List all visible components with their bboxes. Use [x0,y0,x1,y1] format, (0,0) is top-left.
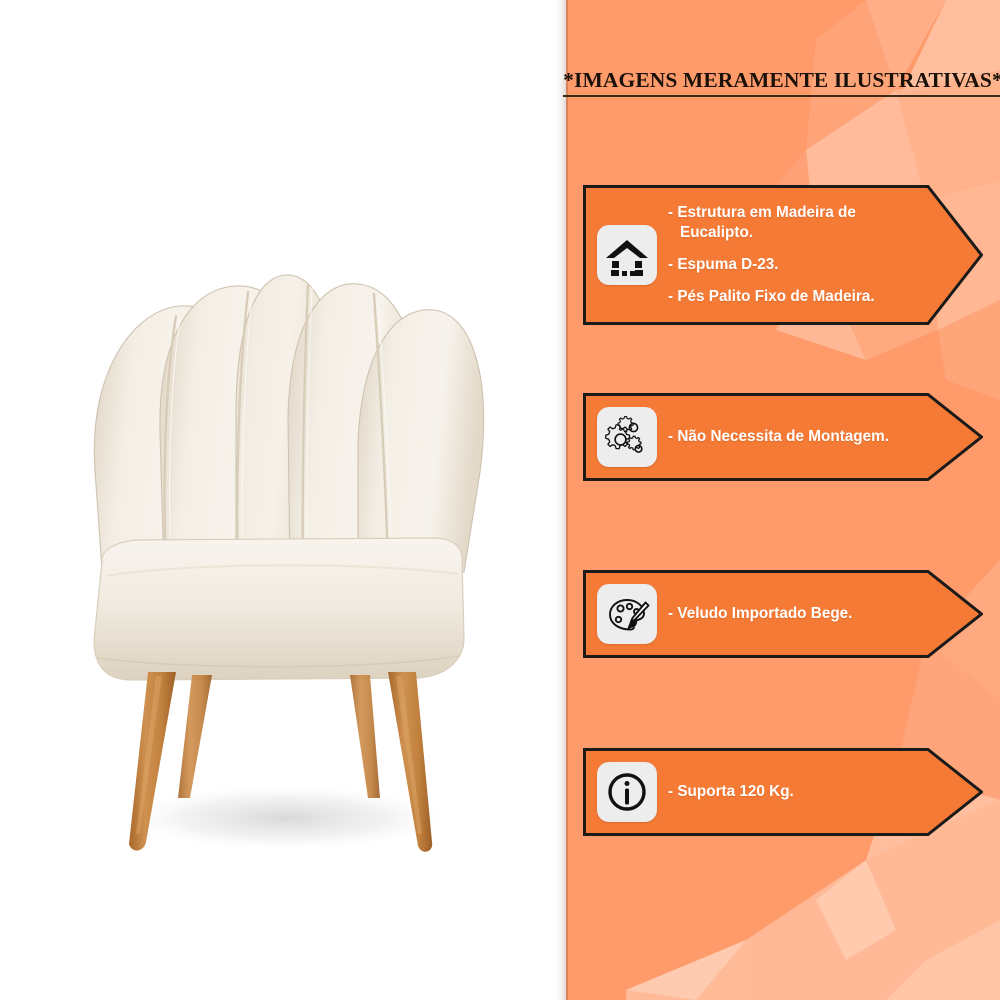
infographic-stage: *IMAGENS MERAMENTE ILUSTRATIVAS* - Estru… [0,0,1000,1000]
house-icon [597,225,657,285]
feature-banner-fabric[interactable]: - Veludo Importado Bege. [583,570,983,658]
chair-backrest [94,275,483,574]
palette-icon [597,584,657,644]
feature-text-structure: - Estrutura em Madeira de Eucalipto. - E… [668,204,875,306]
feature-line: - Estrutura em Madeira de [668,204,875,222]
low-poly-background [566,0,1000,1000]
page-title-text: *IMAGENS MERAMENTE ILUSTRATIVAS* [563,69,1000,98]
gears-icon [597,407,657,467]
feature-text-fabric: - Veludo Importado Bege. [668,605,852,623]
feature-banner-structure[interactable]: - Estrutura em Madeira de Eucalipto. - E… [583,185,983,325]
feature-banner-capacity[interactable]: - Suporta 120 Kg. [583,748,983,836]
product-image-chair [40,170,510,870]
gears-icon-glyph [603,413,651,461]
page-title: *IMAGENS MERAMENTE ILUSTRATIVAS* [566,62,1000,104]
feature-text-assembly: - Não Necessita de Montagem. [668,428,889,446]
feature-banner-assembly[interactable]: - Não Necessita de Montagem. [583,393,983,481]
feature-text-capacity: - Suporta 120 Kg. [668,783,794,801]
feature-line: - Suporta 120 Kg. [668,783,794,801]
info-panel [566,0,1000,1000]
palette-icon-glyph [603,590,651,638]
feature-line: Eucalipto. [668,224,875,242]
feature-line: - Veludo Importado Bege. [668,605,852,623]
feature-line: - Espuma D-23. [668,256,875,274]
info-icon-glyph [603,768,651,816]
product-photo-pane [0,0,566,1000]
feature-line: - Pés Palito Fixo de Madeira. [668,288,875,306]
info-icon [597,762,657,822]
chair-seat [94,538,464,680]
house-icon-glyph [603,231,651,279]
feature-line: - Não Necessita de Montagem. [668,428,889,446]
